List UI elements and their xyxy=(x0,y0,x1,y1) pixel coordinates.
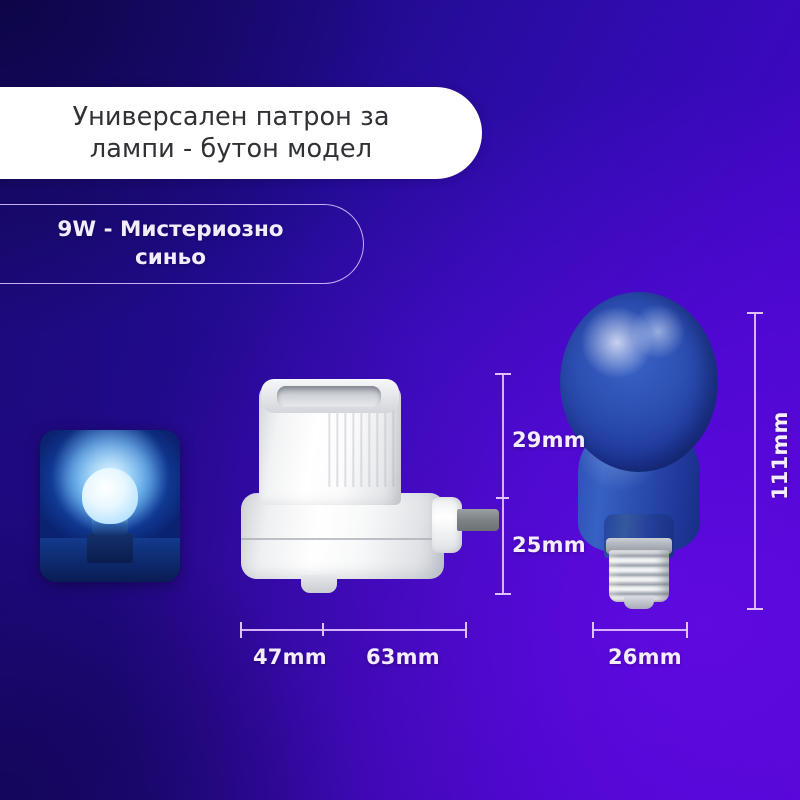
thumbnail-scene xyxy=(40,430,180,582)
variant-badge: 9W - Мистериозно синьо xyxy=(0,204,364,284)
socket-dim-25mm: 25mm xyxy=(512,533,586,557)
bulb-horizontal-dim-cap-right xyxy=(686,622,688,638)
bulb-dim-26mm: 26mm xyxy=(608,645,682,669)
bulb-product-photo xyxy=(548,292,728,612)
socket-ribs xyxy=(323,405,397,487)
socket-body xyxy=(241,493,444,579)
socket-seam xyxy=(241,538,444,540)
socket-horizontal-dim-cap-mid xyxy=(322,623,324,636)
socket-vertical-dim-cap-bottom xyxy=(495,593,511,595)
bulb-vertical-dim-cap-bottom xyxy=(747,608,763,610)
socket-vertical-dim-cap-mid xyxy=(496,497,509,499)
bulb-base-tip xyxy=(624,596,654,609)
socket-dim-63mm: 63mm xyxy=(366,645,440,669)
product-title-banner: Универсален патрон за лампи - бутон моде… xyxy=(0,87,482,179)
variant-label: 9W - Мистериозно синьо xyxy=(57,216,283,272)
socket-horizontal-dim-line xyxy=(240,629,467,631)
bulb-vertical-dim-line xyxy=(754,313,756,609)
bulb-horizontal-dim-cap-left xyxy=(592,622,594,638)
bulb-vertical-dim-cap-top xyxy=(747,312,763,314)
thumbnail-socket-base xyxy=(87,533,133,563)
bulb-horizontal-dim-line xyxy=(592,629,688,631)
product-spec-image: Универсален патрон за лампи - бутон моде… xyxy=(0,0,800,800)
socket-horizontal-dim-cap-left xyxy=(240,622,242,638)
socket-plug-prong xyxy=(457,509,499,531)
thumbnail-bulb-glass xyxy=(82,468,138,524)
socket-dim-47mm: 47mm xyxy=(253,645,327,669)
lit-bulb-thumbnail[interactable] xyxy=(40,430,180,582)
socket-product-photo xyxy=(235,375,500,615)
bulb-dim-111mm: 111mm xyxy=(768,411,792,500)
socket-dim-29mm: 29mm xyxy=(512,428,586,452)
socket-vertical-dim-line xyxy=(502,374,504,594)
bulb-e27-screw-base xyxy=(609,550,669,602)
page-title: Универсален патрон за лампи - бутон моде… xyxy=(72,101,389,165)
socket-lamp-opening xyxy=(277,386,381,407)
socket-horizontal-dim-cap-right xyxy=(465,622,467,638)
socket-vertical-dim-cap-top xyxy=(495,373,511,375)
socket-foot xyxy=(301,575,337,593)
